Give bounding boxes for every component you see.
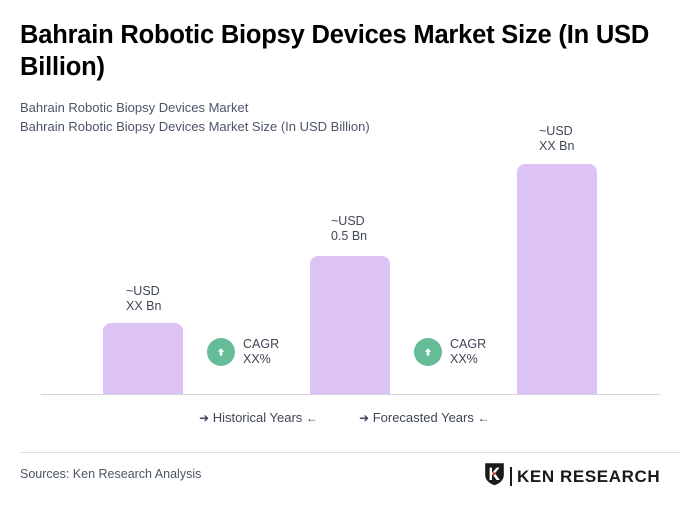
cagr-badge-2[interactable]: CAGR XX%: [414, 337, 486, 366]
cagr-label-1: CAGR XX%: [243, 337, 279, 366]
chart-canvas: Bahrain Robotic Biopsy Devices Market Si…: [0, 0, 700, 520]
arrow-right-icon: ➜: [359, 411, 369, 425]
forecasted-years-label: ➜ Forecasted Years ←: [359, 409, 490, 427]
bar-historical[interactable]: [103, 323, 183, 394]
year-range-row: ➜ Historical Years ← ➜ Forecasted Years …: [0, 409, 700, 429]
historical-years-label: ➜ Historical Years ←: [199, 409, 318, 427]
bar-value-label-2: ~USD 0.5 Bn: [331, 214, 367, 243]
arrow-left-icon: ←: [478, 411, 490, 425]
sources-text: Sources: Ken Research Analysis: [20, 466, 201, 483]
axis-baseline: [41, 394, 660, 395]
logo-wordmark: KEN RESEARCH: [517, 468, 660, 486]
arrow-right-icon: ➜: [199, 411, 209, 425]
bar-value-label-1: ~USD XX Bn: [126, 284, 161, 313]
ken-research-logo: KEN RESEARCH: [484, 462, 660, 491]
cagr-label-2: CAGR XX%: [450, 337, 486, 366]
arrow-up-icon: [207, 338, 235, 366]
logo-divider: [510, 467, 512, 486]
shield-k-icon: [484, 462, 505, 491]
cagr-badge-1[interactable]: CAGR XX%: [207, 337, 279, 366]
plot-area: ~USD XX Bn CAGR XX% ~USD 0.5 Bn CAGR XX%: [0, 0, 700, 400]
footer-divider: [20, 452, 680, 453]
arrow-left-icon: ←: [306, 411, 318, 425]
forecasted-years-text: Forecasted Years: [373, 410, 474, 425]
arrow-up-icon: [414, 338, 442, 366]
bar-current[interactable]: [310, 256, 390, 394]
historical-years-text: Historical Years: [213, 410, 303, 425]
bar-value-label-3: ~USD XX Bn: [539, 124, 574, 153]
bar-forecast[interactable]: [517, 164, 597, 394]
